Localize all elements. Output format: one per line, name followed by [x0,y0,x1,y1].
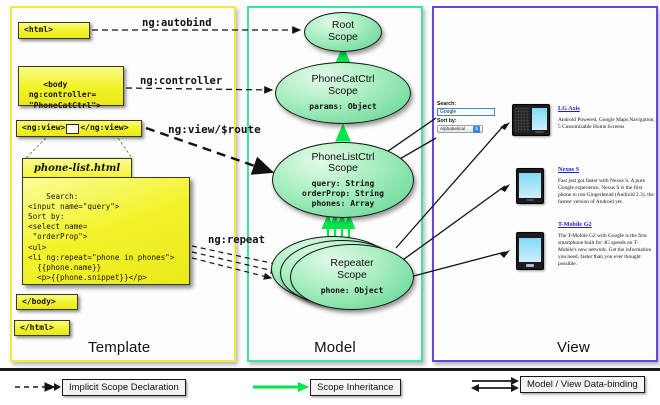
legend-item-inheritance: Scope Inheritance [252,378,401,396]
code-box-ng-view-open-text: <ng:view> [22,123,65,133]
legend-label-implicit: Implicit Scope Declaration [62,379,186,396]
phone-snippet-t-mobile-g2: The T-Mobile G2 with Google is the first… [558,233,656,268]
phone-name-lg-axis[interactable]: LG Axis [558,105,580,112]
legend-icon-solid-green-arrow [252,380,310,394]
code-box-html-open-text: <html> [24,25,53,35]
code-box-body-close: </body> [16,294,78,310]
sort-label: Sort by: [437,118,499,125]
code-box-html-close: </html> [14,320,70,336]
panel-label-template: Template [12,339,150,356]
chevron-updown-icon: ⇅ [473,126,480,133]
sort-select-value: Alphabetical [440,126,465,132]
code-box-html-open: <html> [18,22,90,39]
phone-snippet-lg-axis: Android Powered, Google Maps Navigation,… [558,117,656,131]
code-box-body-open-text: <body ng:controller= "PhoneCatCtrl"> [24,80,101,109]
code-box-ng-view: <ng:view></ng:view> [16,120,142,137]
note-filename-tab: phone-list.html [22,158,132,177]
legend: Implicit Scope Declaration Scope Inherit… [0,368,660,405]
scope-repeater-name-line2: Scope [330,270,373,282]
search-input[interactable]: Google [437,108,495,116]
view-search-form: Search: Google Sort by: Alphabetical ⇅ [437,101,499,133]
phone-snippet-nexus-s: Fast just got faster with Nexus S. A pur… [558,178,656,206]
phone-name-t-mobile-g2[interactable]: T-Mobile G2 [558,221,592,228]
diagram-canvas: Template Model View ng:autobind ng:contr… [0,0,660,405]
search-input-value: Google [440,109,456,116]
phone-name-nexus-s[interactable]: Nexus S [558,166,579,173]
scope-phonecatctrl-props: params: Object [309,102,376,112]
scope-phonelistctrl-name-line2: Scope [311,163,374,175]
legend-label-inheritance: Scope Inheritance [310,379,401,396]
legend-item-databinding: Model / View Data-binding [470,375,645,393]
note-filename-text: phone-list.html [34,163,120,174]
ng-view-placeholder-icon [66,124,79,134]
note-code-body: Search: <input name="query"> Sort by: <s… [22,177,190,285]
panel-label-model: Model [249,339,421,356]
legend-item-implicit: Implicit Scope Declaration [14,378,186,396]
code-box-body-close-text: </body> [22,297,56,307]
legend-label-databinding: Model / View Data-binding [520,376,645,393]
sort-select[interactable]: Alphabetical ⇅ [437,125,483,133]
legend-icon-dashed-arrow [14,380,62,394]
legend-divider [0,368,660,371]
scope-repeater-props: phone: Object [321,286,384,296]
scope-phonelistctrl: PhoneListCtrl Scope query: String orderP… [272,142,414,218]
scope-phonecatctrl-name-line2: Scope [311,86,374,98]
scope-root: Root Scope [304,12,382,52]
legend-icon-double-arrow [470,374,520,394]
note-code-text: Search: <input name="query"> Sort by: <s… [28,192,174,285]
phone-image-lg-axis [512,104,550,136]
code-box-body-open: <body ng:controller= "PhoneCatCtrl"> [18,66,124,106]
phone-image-t-mobile-g2 [516,232,544,270]
scope-phonecatctrl: PhoneCatCtrl Scope params: Object [275,62,411,124]
scope-phonelistctrl-props: query: String orderProp: String phones: … [302,179,384,208]
code-box-ng-view-close-text: </ng:view> [80,123,128,133]
code-box-html-close-text: </html> [20,323,54,333]
search-label: Search: [437,101,499,108]
scope-root-name-line2: Scope [328,32,358,44]
scope-repeater: Repeater Scope phone: Object [290,244,414,310]
phone-image-nexus-s [516,168,544,204]
panel-label-view: View [557,339,656,356]
